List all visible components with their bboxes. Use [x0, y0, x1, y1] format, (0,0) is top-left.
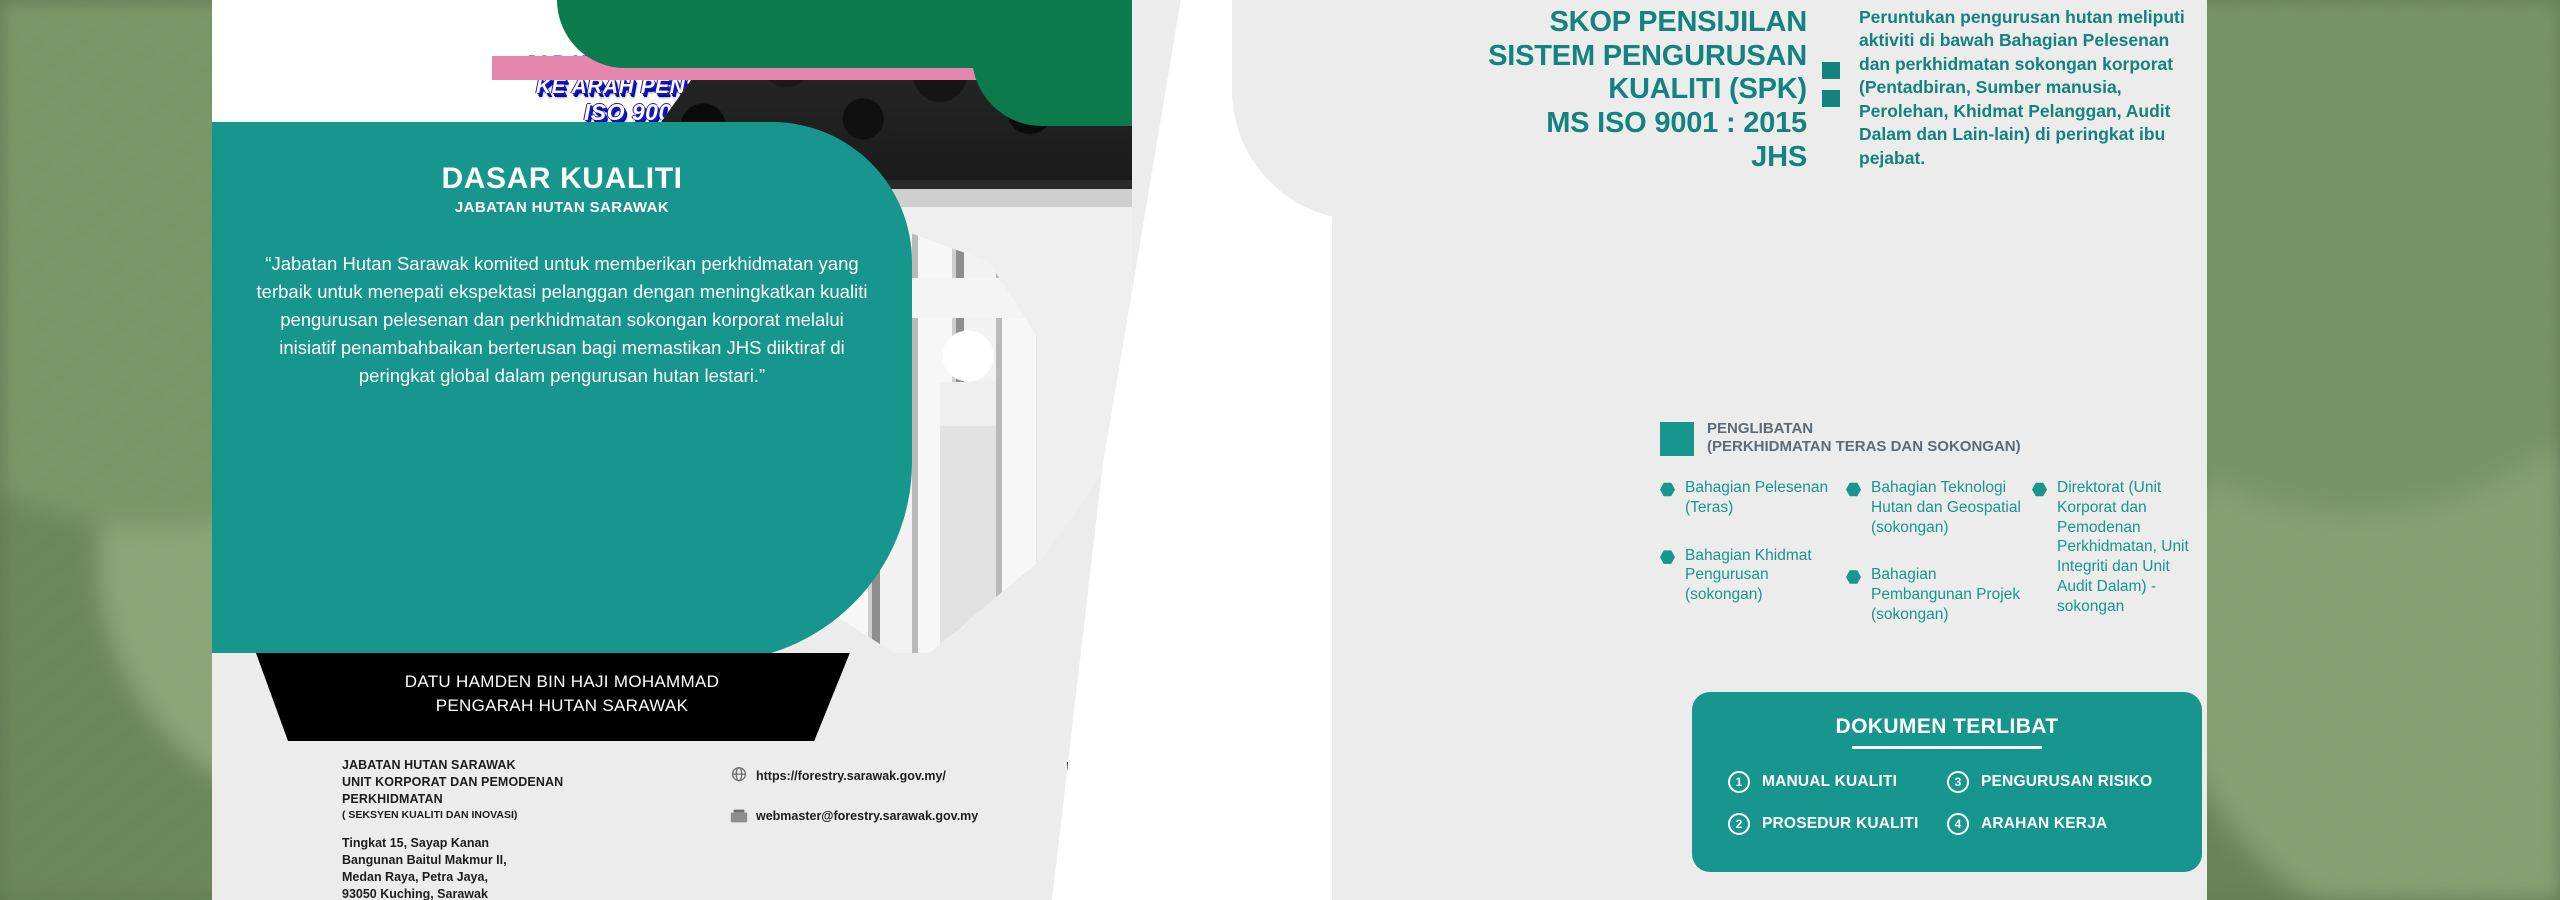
penglibatan-label: Bahagian Pelesenan (Teras) [1685, 478, 1846, 518]
footer-addr-2: Bangunan Baitul Makmur II, [342, 852, 672, 869]
scope-heading-line-0: SKOP PENSIJILAN [1287, 6, 1807, 40]
scope-heading-line-4: JHS [1287, 141, 1807, 175]
list-item: Bahagian Pembangunan Projek (sokongan) [1846, 565, 2032, 624]
signatory-text: DATU HAMDEN BIN HAJI MOHAMMAD PENGARAH H… [212, 670, 912, 718]
dokumen-underline [1852, 746, 2042, 749]
footer-addr-4: 93050 Kuching, Sarawak [342, 886, 672, 900]
right-column: SKOP PENSIJILAN SISTEM PENGURUSAN KUALIT… [1292, 0, 2207, 900]
list-item: Bahagian Pelesenan (Teras) [1660, 478, 1846, 518]
scope-heading-line-1: SISTEM PENGURUSAN [1287, 40, 1807, 74]
hex-bullet-icon [1660, 550, 1675, 565]
scope-heading-line-2: KUALITI (SPK) [1287, 73, 1807, 107]
footer-website: https://forestry.sarawak.gov.my/ [756, 769, 946, 783]
list-item: Bahagian Teknologi Hutan dan Geospatial … [1846, 478, 2032, 537]
email-icon [722, 806, 756, 826]
penglibatan-label: Bahagian Teknologi Hutan dan Geospatial … [1871, 478, 2032, 537]
dokumen-terlibat-card: DOKUMEN TERLIBAT 1 MANUAL KUALITI 3 PENG… [1692, 692, 2202, 872]
footer-email-row[interactable]: webmaster@forestry.sarawak.gov.my [722, 796, 1042, 836]
equals-icon [1822, 62, 1840, 107]
dokumen-label: PENGURUSAN RISIKO [1981, 773, 2152, 791]
footer-addr-1: Tingkat 15, Sayap Kanan [342, 835, 672, 852]
list-item: Bahagian Khidmat Pengurusan (sokongan) [1660, 546, 1846, 605]
penglibatan-label: Bahagian Khidmat Pengurusan (sokongan) [1685, 546, 1846, 605]
hex-bullet-icon [1846, 569, 1861, 584]
scope-body: Peruntukan pengurusan hutan meliputi akt… [1859, 6, 2189, 170]
footer-org-3: PERKHIDMATAN [342, 791, 672, 808]
list-item: 3 PENGURUSAN RISIKO [1947, 771, 2166, 793]
footer-address: JABATAN HUTAN SARAWAK UNIT KORPORAT DAN … [342, 757, 672, 900]
dasar-subtitle: JABATAN HUTAN SARAWAK [212, 199, 912, 216]
dokumen-grid: 1 MANUAL KUALITI 3 PENGURUSAN RISIKO 2 P… [1692, 771, 2202, 835]
footer-web-column: https://forestry.sarawak.gov.my/ webmast… [722, 756, 1042, 836]
footer-org-1: JABATAN HUTAN SARAWAK [342, 757, 672, 774]
footer-seksyen: ( SEKSYEN KUALITI DAN INOVASI) [342, 809, 672, 821]
teal-square-icon [1660, 422, 1694, 456]
penglibatan-grid: Bahagian Pelesenan (Teras) Bahagian Khid… [1660, 478, 2205, 653]
penglibatan-titles: PENGLIBATAN (PERKHIDMATAN TERAS DAN SOKO… [1707, 420, 2021, 456]
dokumen-label: ARAHAN KERJA [1981, 815, 2107, 833]
footer-email: webmaster@forestry.sarawak.gov.my [756, 809, 978, 823]
penglibatan-section: PENGLIBATAN (PERKHIDMATAN TERAS DAN SOKO… [1660, 420, 2205, 653]
dokumen-title: DOKUMEN TERLIBAT [1692, 692, 2202, 739]
penglibatan-column-1: Bahagian Pelesenan (Teras) Bahagian Khid… [1660, 478, 1846, 653]
signatory-name: DATU HAMDEN BIN HAJI MOHAMMAD [212, 670, 912, 694]
penglibatan-label: Direktorat (Unit Korporat dan Pemodenan … [2057, 478, 2205, 617]
list-item: 1 MANUAL KUALITI [1728, 771, 1947, 793]
penglibatan-column-2: Bahagian Teknologi Hutan dan Geospatial … [1846, 478, 2032, 653]
dokumen-number: 1 [1728, 771, 1750, 793]
penglibatan-label: Bahagian Pembangunan Projek (sokongan) [1871, 565, 2032, 624]
dasar-title: DASAR KUALITI [212, 162, 912, 196]
list-item: 4 ARAHAN KERJA [1947, 813, 2166, 835]
signatory-title: PENGARAH HUTAN SARAWAK [212, 694, 912, 718]
dokumen-number: 4 [1947, 813, 1969, 835]
list-item: Direktorat (Unit Korporat dan Pemodenan … [2032, 478, 2205, 617]
hex-bullet-icon [1846, 482, 1861, 497]
dokumen-label: MANUAL KUALITI [1762, 773, 1897, 791]
globe-icon [722, 765, 756, 787]
penglibatan-column-3: Direktorat (Unit Korporat dan Pemodenan … [2032, 478, 2205, 653]
dokumen-number: 3 [1947, 771, 1969, 793]
hex-bullet-icon [2032, 482, 2047, 497]
penglibatan-title: PENGLIBATAN [1707, 420, 2021, 438]
footer-addr-3: Medan Raya, Petra Jaya, [342, 869, 672, 886]
footer-org-2: UNIT KORPORAT DAN PEMODENAN [342, 774, 672, 791]
penglibatan-subtitle: (PERKHIDMATAN TERAS DAN SOKONGAN) [1707, 438, 2021, 456]
hex-bullet-icon [1660, 482, 1675, 497]
dokumen-label: PROSEDUR KUALITI [1762, 815, 1918, 833]
infographic-poster: JABATAN HUTAN SARAWAK KE ARAH PENSIJILAN… [212, 0, 2207, 900]
scope-heading: SKOP PENSIJILAN SISTEM PENGURUSAN KUALIT… [1287, 6, 1807, 174]
scope-heading-line-3: MS ISO 9001 : 2015 [1287, 107, 1807, 141]
list-item: 2 PROSEDUR KUALITI [1728, 813, 1947, 835]
penglibatan-header: PENGLIBATAN (PERKHIDMATAN TERAS DAN SOKO… [1660, 420, 2205, 456]
dasar-kualiti-card: DASAR KUALITI JABATAN HUTAN SARAWAK “Jab… [212, 122, 912, 662]
dasar-quote: “Jabatan Hutan Sarawak komited untuk mem… [254, 250, 870, 391]
footer-website-row[interactable]: https://forestry.sarawak.gov.my/ [722, 756, 1042, 796]
signatory-band: DATU HAMDEN BIN HAJI MOHAMMAD PENGARAH H… [212, 653, 912, 741]
dokumen-number: 2 [1728, 813, 1750, 835]
